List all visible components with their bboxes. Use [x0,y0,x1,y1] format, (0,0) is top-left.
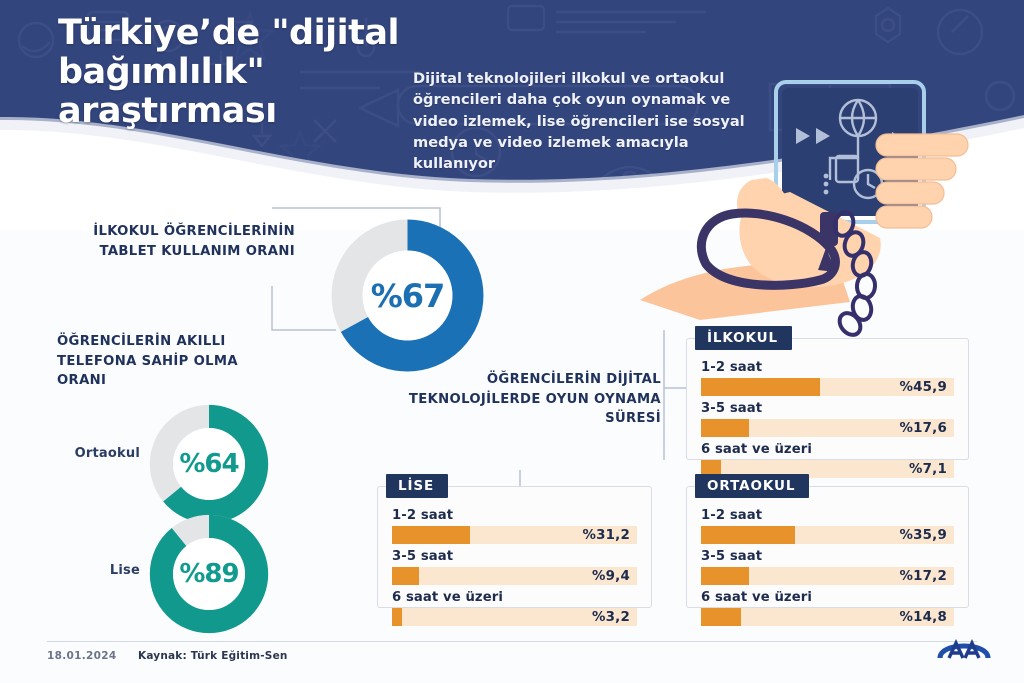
panel-ortaokul: ORTAOKUL 1-2 saat %35,9 3-5 saat %17,2 6… [686,486,969,608]
bar-track: %3,2 [392,608,637,626]
bar-label: 6 saat ve üzeri [392,590,637,605]
donut-value-64: %64 [148,403,270,525]
bar-row: 1-2 saat %31,2 [392,508,637,544]
footer-date: 18.01.2024 [47,650,116,662]
donut-value-67: %67 [330,218,485,373]
page-title: Türkiye’de "dijital bağımlılık" araştırm… [58,14,438,132]
bar-label: 3-5 saat [392,549,637,564]
bar-label: 1-2 saat [392,508,637,523]
bar-fill [701,419,749,437]
donut-chart-lise-smartphone: %89 [148,513,270,635]
donut-label-ortaokul: Ortaokul [20,446,140,461]
bar-label: 6 saat ve üzeri [701,442,954,457]
panel-title-ilkokul: İLKOKUL [695,326,792,350]
donut-value-89: %89 [148,513,270,635]
bar-track: %9,4 [392,567,637,585]
bar-track: %17,2 [701,567,954,585]
bar-label: 3-5 saat [701,401,954,416]
hand-holding-tablet-illustration [640,52,1000,352]
bar-value: %17,2 [900,567,947,585]
bar-track: %35,9 [701,526,954,544]
infographic-page: Türkiye’de "dijital bağımlılık" araştırm… [0,0,1024,683]
panel-title-lise: LİSE [386,474,448,498]
bar-track: %45,9 [701,378,954,396]
aa-logo-icon [936,634,992,664]
bar-row: 1-2 saat %45,9 [701,360,954,396]
bar-row: 6 saat ve üzeri %14,8 [701,590,954,626]
bar-value: %9,4 [592,567,630,585]
donut-label-lise: Lise [20,563,140,578]
bar-fill [392,567,419,585]
page-title-line2: araştırması [58,92,438,131]
bar-track: %14,8 [701,608,954,626]
label-gaming-time: ÖĞRENCİLERİN DİJİTAL TEKNOLOJİLERDE OYUN… [370,370,661,429]
label-smartphone-ownership: ÖĞRENCİLERİN AKILLI TELEFONA SAHİP OLMA … [57,332,257,391]
bar-list-ilkokul: 1-2 saat %45,9 3-5 saat %17,6 6 saat ve … [687,339,968,495]
bar-value: %14,8 [900,608,947,626]
bar-fill [392,608,402,626]
bar-value: %17,6 [900,419,947,437]
bar-track: %17,6 [701,419,954,437]
bar-list-lise: 1-2 saat %31,2 3-5 saat %9,4 6 saat ve ü… [378,487,651,643]
footer-divider [47,641,977,642]
bar-row: 6 saat ve üzeri %7,1 [701,442,954,478]
bar-list-ortaokul: 1-2 saat %35,9 3-5 saat %17,2 6 saat ve … [687,487,968,643]
bar-row: 3-5 saat %17,2 [701,549,954,585]
panel-title-ortaokul: ORTAOKUL [695,474,809,498]
donut-chart-ortaokul-smartphone: %64 [148,403,270,525]
bar-value: %45,9 [900,378,947,396]
bar-fill [701,608,741,626]
bar-row: 6 saat ve üzeri %3,2 [392,590,637,626]
bar-fill [701,567,749,585]
bar-value: %35,9 [900,526,947,544]
bar-row: 3-5 saat %9,4 [392,549,637,585]
bar-fill [701,378,820,396]
bar-value: %3,2 [592,608,630,626]
panel-ilkokul: İLKOKUL 1-2 saat %45,9 3-5 saat %17,6 6 … [686,338,969,460]
bar-fill [392,526,470,544]
bar-label: 1-2 saat [701,360,954,375]
donut-chart-tablet-usage: %67 [330,218,485,373]
bar-value: %31,2 [583,526,630,544]
bar-fill [701,526,795,544]
bar-value: %7,1 [909,460,947,478]
bar-track: %31,2 [392,526,637,544]
page-title-line1: Türkiye’de "dijital bağımlılık" [58,14,438,92]
bar-row: 3-5 saat %17,6 [701,401,954,437]
panel-lise: LİSE 1-2 saat %31,2 3-5 saat %9,4 6 saat… [377,486,652,608]
bar-label: 3-5 saat [701,549,954,564]
bar-label: 6 saat ve üzeri [701,590,954,605]
footer-source: Kaynak: Türk Eğitim-Sen [138,650,288,662]
label-tablet-usage: İLKOKUL ÖĞRENCİLERİNİN TABLET KULLANIM O… [62,222,295,261]
bar-row: 1-2 saat %35,9 [701,508,954,544]
bar-label: 1-2 saat [701,508,954,523]
